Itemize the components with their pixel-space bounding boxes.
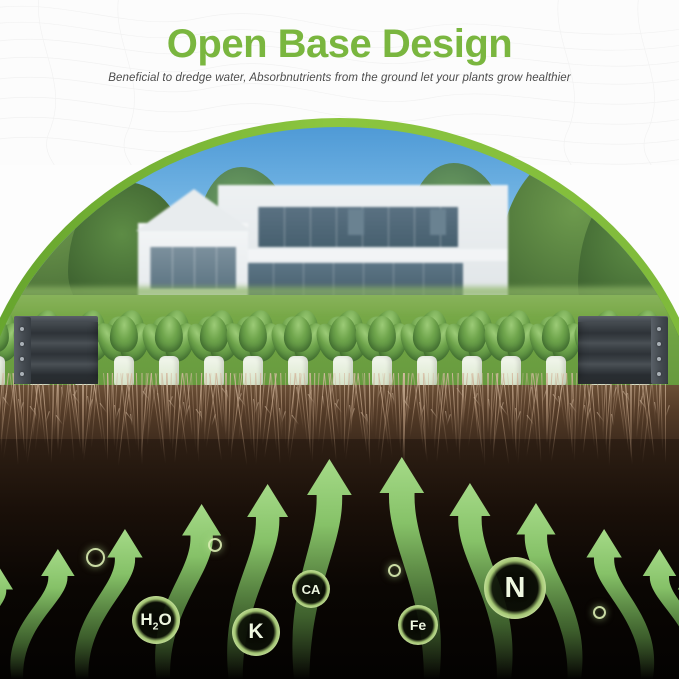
bubble-label: K — [248, 620, 263, 644]
nutrient-arrow — [155, 504, 221, 679]
bubble-ring-2 — [208, 538, 222, 552]
house-small-window-1 — [348, 209, 364, 235]
page-subtitle: Beneficial to dredge water, Absorbnutrie… — [0, 72, 679, 84]
nutrient-arrows — [0, 417, 679, 679]
bubble-label: Fe — [410, 617, 426, 633]
bubble-h2o: H2O — [132, 596, 180, 644]
garden-scene — [0, 127, 679, 679]
nutrient-arrow — [10, 549, 74, 679]
bracket-bolt — [657, 372, 661, 376]
right-planter[interactable] — [578, 322, 668, 384]
nutrient-arrow — [292, 459, 351, 679]
house-small-window-2 — [430, 209, 446, 235]
bubble-ca: CA — [292, 570, 330, 608]
bubble-label: CA — [302, 582, 321, 597]
house-gable-roof — [136, 189, 252, 231]
bubble-ring-4 — [593, 606, 606, 619]
bracket-bolt — [657, 342, 661, 346]
bracket-bolt — [20, 372, 24, 376]
root-hair — [323, 396, 326, 408]
infographic-canvas: Open Base Design Beneficial to dredge wa… — [0, 0, 679, 679]
nutrient-arrow — [586, 529, 654, 679]
bracket-bolt — [20, 327, 24, 331]
bracket-bolt — [20, 342, 24, 346]
photo-dome — [0, 118, 679, 679]
planter-corner-bracket — [651, 317, 668, 384]
bubble-ring-1 — [86, 548, 105, 567]
bracket-bolt — [20, 357, 24, 361]
page-title: Open Base Design — [0, 22, 679, 67]
nutrient-arrow — [75, 529, 143, 679]
bracket-bolt — [657, 357, 661, 361]
root-strand — [428, 373, 429, 423]
bubble-n: N — [484, 557, 546, 619]
bubble-label: H2O — [140, 610, 171, 630]
bubble-fe: Fe — [398, 605, 438, 645]
planter-corner-bracket — [14, 317, 31, 384]
photo-clip — [0, 127, 679, 679]
bubble-ring-3 — [388, 564, 401, 577]
bubble-label: N — [505, 572, 526, 605]
house-fascia — [218, 249, 508, 261]
bracket-bolt — [657, 327, 661, 331]
bubble-k: K — [232, 608, 280, 656]
left-planter[interactable] — [14, 322, 98, 384]
